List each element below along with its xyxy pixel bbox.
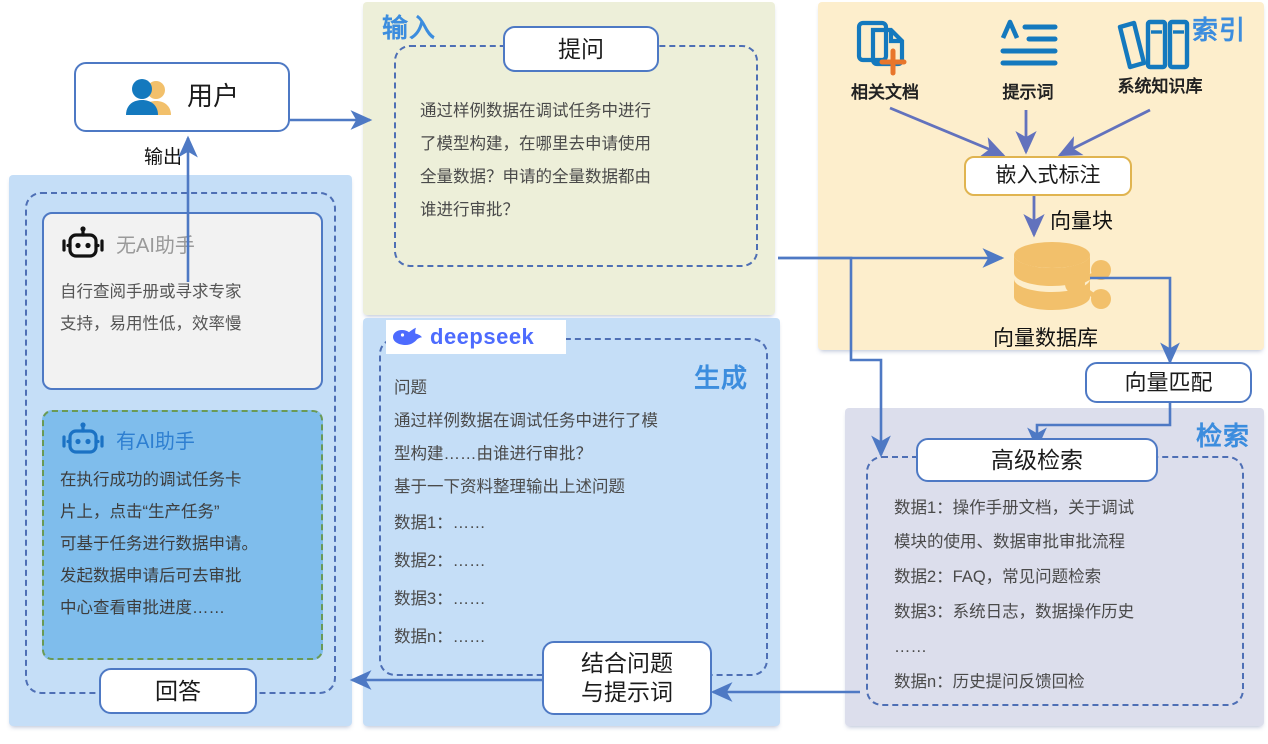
answer-badge: 回答 <box>99 668 257 714</box>
users-icon <box>125 77 173 117</box>
advanced-retrieval-badge: 高级检索 <box>916 438 1158 482</box>
generate-line: 基于一下资料整理输出上述问题 <box>394 471 754 504</box>
generate-line: 数据3：…… <box>394 580 754 618</box>
vector-database-icon <box>1005 240 1125 326</box>
retrieval-line: 数据1：操作手册文档，关于调试 <box>894 492 1244 525</box>
retrieval-line: 数据2：FAQ，常见问题检索 <box>894 560 1244 595</box>
embedding-annotation-box: 嵌入式标注 <box>964 156 1132 196</box>
vector-match-box: 向量匹配 <box>1085 362 1252 403</box>
index-source-knowledge-base: 系统知识库 <box>1095 14 1225 97</box>
input-question-text: 通过样例数据在调试任务中进行 了模型构建，在哪里去申请使用 全量数据？申请的全量… <box>420 95 740 227</box>
card-with-ai-body: 在执行成功的调试任务卡 片上，点击“生产任务” 可基于任务进行数据申请。 发起数… <box>60 464 305 624</box>
retrieval-line: …… <box>894 630 1244 665</box>
index-source-prompt: 提示词 <box>975 18 1081 103</box>
generate-line: 通过样例数据在调试任务中进行了模 <box>394 405 754 438</box>
books-icon <box>1118 14 1202 74</box>
index-source-documents: 相关文档 <box>832 18 938 103</box>
prompt-text-icon <box>997 18 1059 76</box>
output-label: 输出 <box>128 142 198 169</box>
deepseek-logo-text: deepseek <box>430 324 534 350</box>
user-node[interactable]: 用户 <box>74 62 290 132</box>
generate-lines: 问题 通过样例数据在调试任务中进行了模 型构建……由谁进行审批？ 基于一下资料整… <box>394 372 754 656</box>
robot-icon <box>60 422 106 456</box>
question-badge: 提问 <box>503 26 659 72</box>
user-node-label: 用户 <box>187 82 239 112</box>
generate-line: 数据2：…… <box>394 542 754 580</box>
index-source-label: 系统知识库 <box>1095 72 1225 97</box>
generate-line: 型构建……由谁进行审批？ <box>394 438 754 471</box>
vector-database-label: 向量数据库 <box>993 322 1098 352</box>
index-source-label: 相关文档 <box>832 78 938 103</box>
card-no-ai-assistant: 无AI助手 自行查阅手册或寻求专家 支持，易用性低，效率慢 <box>42 212 323 390</box>
retrieval-panel-title: 检索 <box>1196 416 1250 453</box>
card-no-ai-header: 无AI助手 <box>60 226 305 260</box>
retrieval-line: 数据n：历史提问反馈回检 <box>894 665 1244 700</box>
diagram-canvas: 用户 输出 无AI助手 自行查阅手册或寻求专家 支持，易用性 <box>0 0 1268 744</box>
card-no-ai-title: 无AI助手 <box>116 229 195 258</box>
retrieval-line: 模块的使用、数据审批审批流程 <box>894 525 1244 560</box>
generate-line: 问题 <box>394 372 754 405</box>
retrieval-lines: 数据1：操作手册文档，关于调试 模块的使用、数据审批审批流程 数据2：FAQ，常… <box>894 492 1244 700</box>
card-with-ai-assistant: 有AI助手 在执行成功的调试任务卡 片上，点击“生产任务” 可基于任务进行数据申… <box>42 410 323 660</box>
card-with-ai-title: 有AI助手 <box>116 425 195 454</box>
card-no-ai-body: 自行查阅手册或寻求专家 支持，易用性低，效率慢 <box>60 276 305 340</box>
documents-plus-icon <box>855 18 915 76</box>
card-with-ai-header: 有AI助手 <box>60 422 305 456</box>
vector-chunk-label: 向量块 <box>1050 205 1113 235</box>
retrieval-line: 数据3：系统日志，数据操作历史 <box>894 595 1244 630</box>
index-source-label: 提示词 <box>975 78 1081 103</box>
generate-line: 数据1：…… <box>394 504 754 542</box>
combine-question-prompt-box: 结合问题 与提示词 <box>542 641 712 715</box>
whale-icon <box>390 324 424 350</box>
deepseek-logo: deepseek <box>386 320 566 354</box>
robot-icon <box>60 226 106 260</box>
input-panel-title: 输入 <box>382 8 436 45</box>
